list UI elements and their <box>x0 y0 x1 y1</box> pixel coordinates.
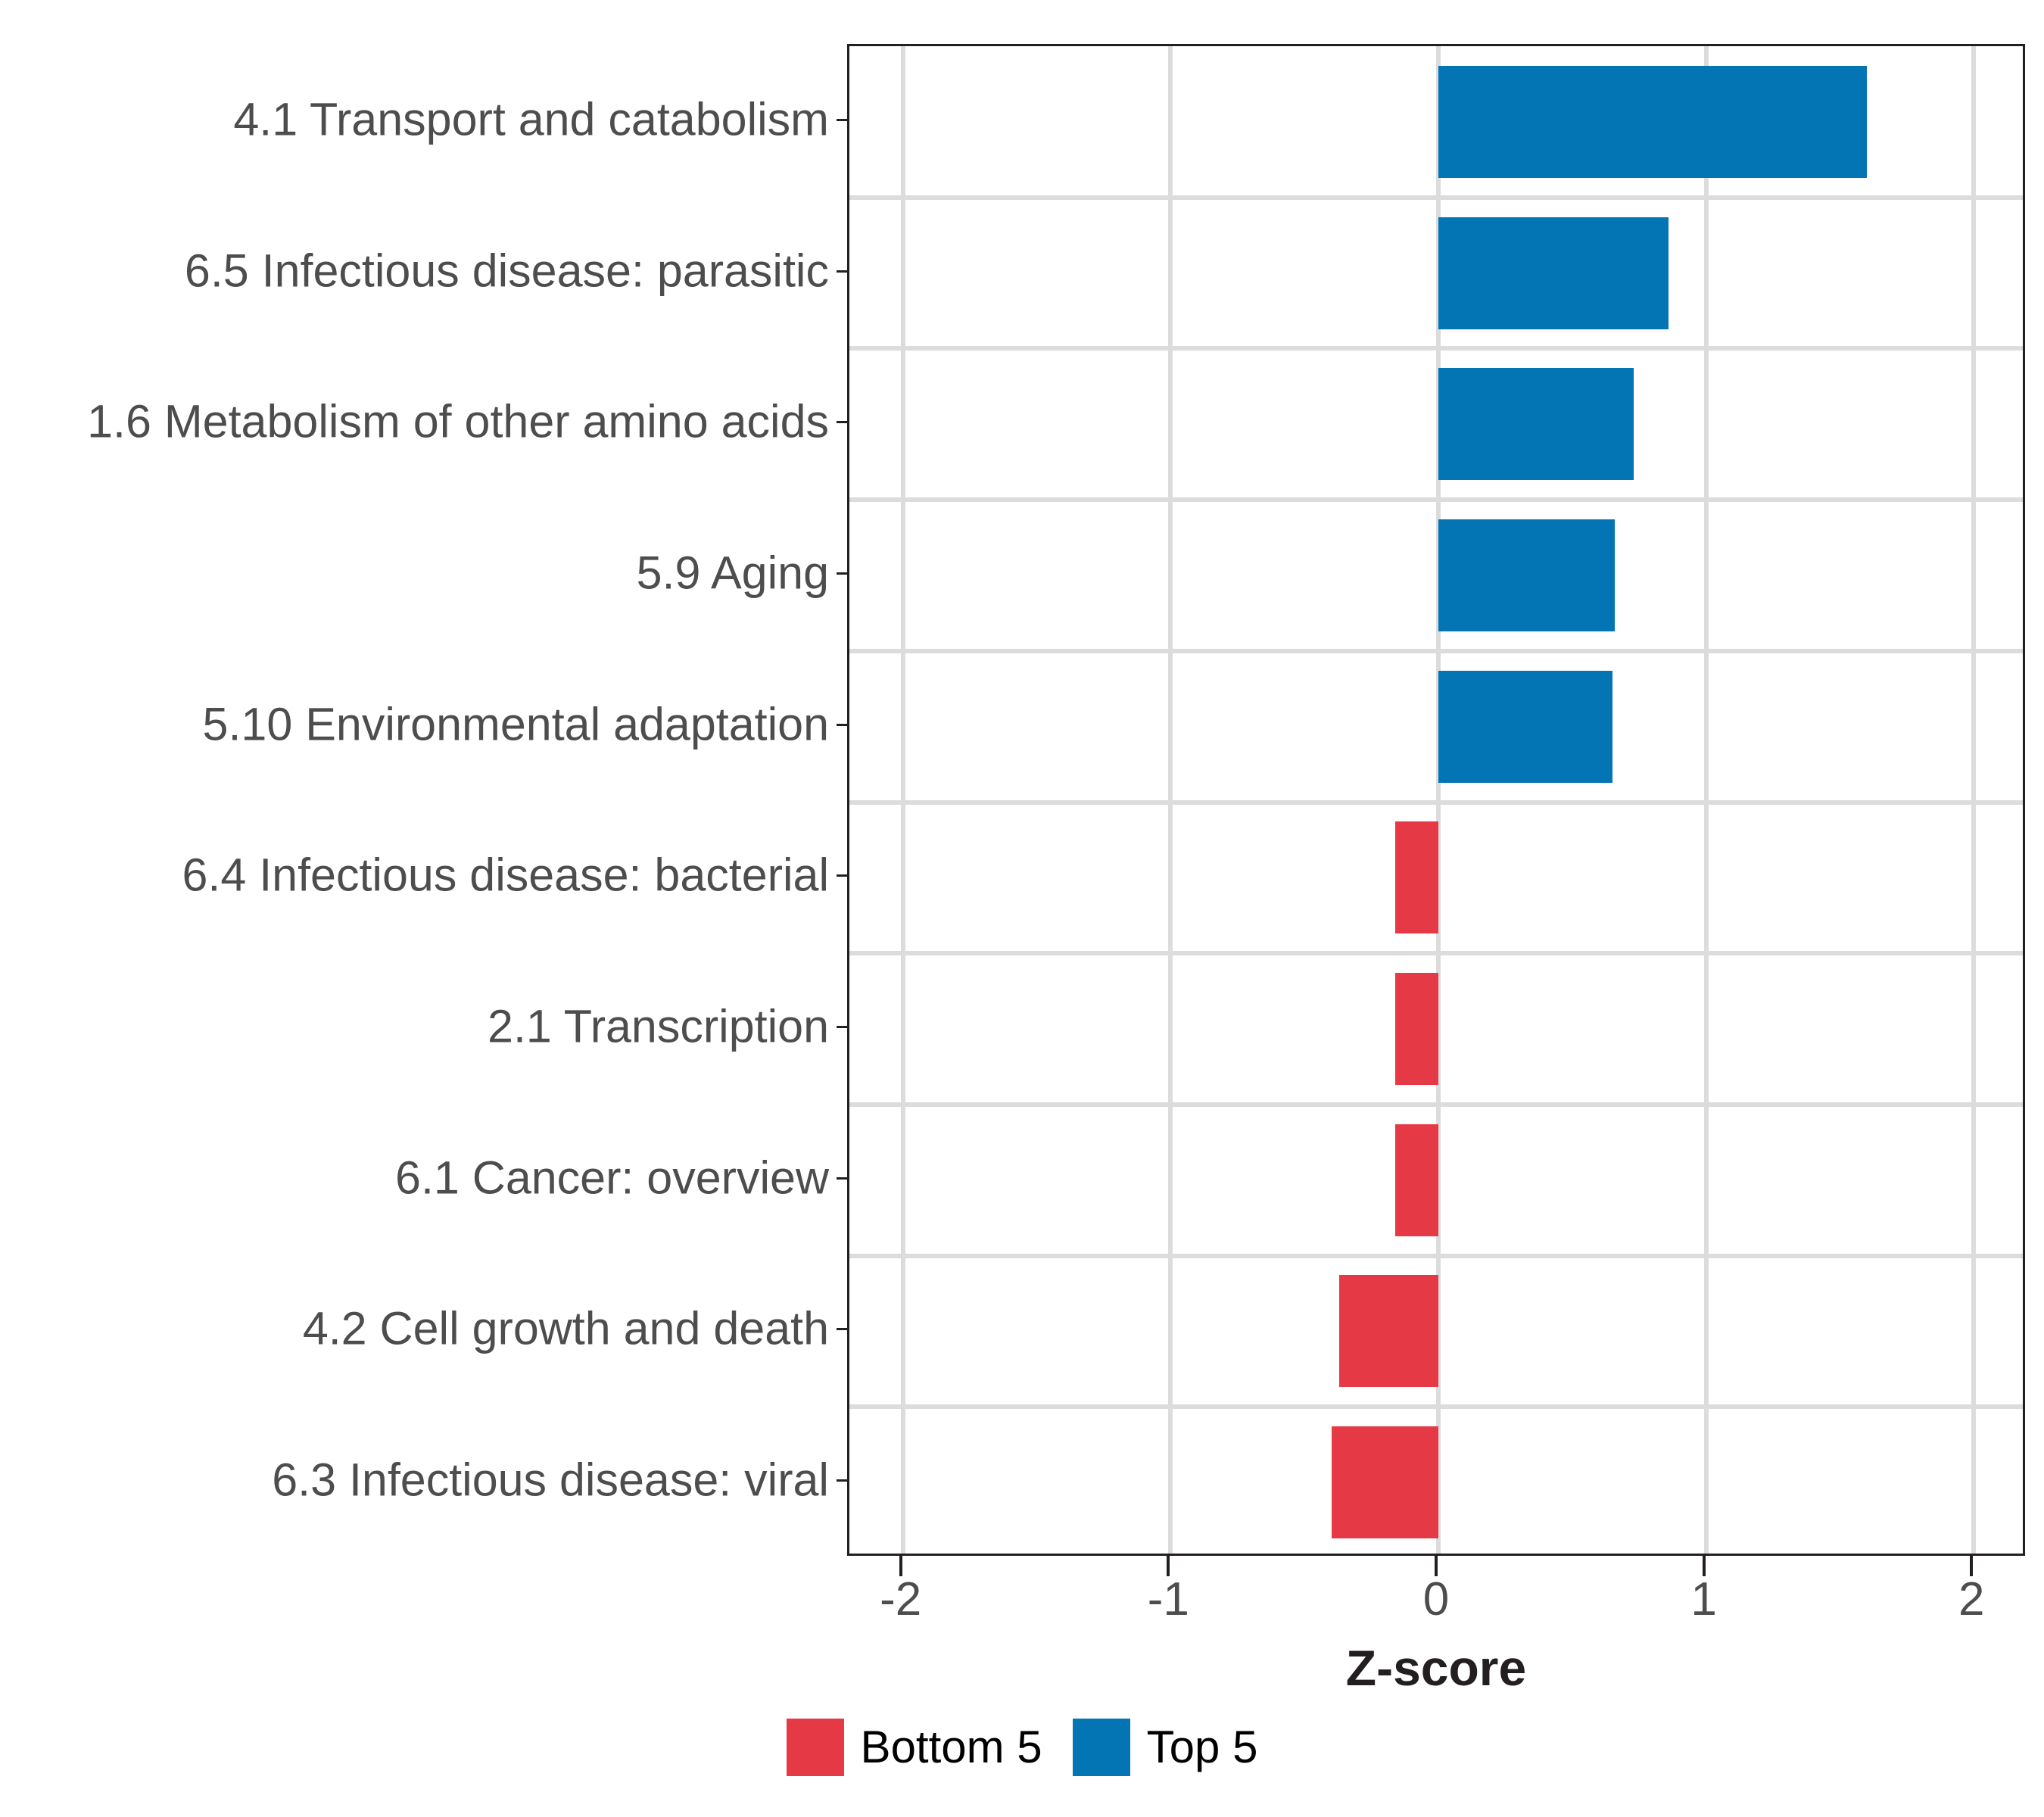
bar <box>1438 368 1634 480</box>
legend-label: Top 5 <box>1147 1725 1258 1770</box>
y-axis-labels: 4.1 Transport and catabolism6.5 Infectio… <box>0 44 829 1556</box>
legend-color-swatch <box>787 1719 844 1776</box>
y-axis-tick-mark <box>837 572 847 575</box>
gridline-horizontal <box>849 497 2023 502</box>
z-score-bar-chart: 4.1 Transport and catabolism6.5 Infectio… <box>0 0 2044 1817</box>
bar <box>1395 1124 1438 1236</box>
y-axis-tick-mark <box>837 119 847 121</box>
bar <box>1438 217 1669 329</box>
x-axis-tick-label: 2 <box>1958 1576 1984 1623</box>
y-axis-tick-label: 6.1 Cancer: overview <box>0 1155 829 1201</box>
bar <box>1395 973 1438 1085</box>
y-axis-tick-mark <box>837 874 847 877</box>
y-axis-tick-label: 5.9 Aging <box>0 550 829 596</box>
plot-panel <box>847 44 2025 1556</box>
legend-label: Bottom 5 <box>861 1725 1042 1770</box>
bar <box>1438 66 1867 178</box>
x-axis-tick-label: -1 <box>1148 1576 1189 1623</box>
legend-color-swatch <box>1073 1719 1130 1776</box>
y-axis-tick-mark <box>837 270 847 273</box>
bar <box>1438 519 1615 631</box>
gridline-horizontal <box>849 1404 2023 1409</box>
gridline-horizontal <box>849 346 2023 351</box>
gridline-horizontal <box>849 951 2023 955</box>
gridline-horizontal <box>849 649 2023 653</box>
y-axis-tick-mark <box>837 421 847 423</box>
x-axis-tick-label: 1 <box>1690 1576 1716 1623</box>
y-axis-tick-mark <box>837 1479 847 1482</box>
x-axis-title: Z-score <box>847 1639 2025 1697</box>
y-axis-tick-mark <box>837 1328 847 1330</box>
legend-item[interactable]: Top 5 <box>1073 1719 1258 1776</box>
y-axis-tick-label: 4.2 Cell growth and death <box>0 1306 829 1352</box>
x-axis-tick-label: 0 <box>1423 1576 1449 1623</box>
y-axis-tick-label: 6.4 Infectious disease: bacterial <box>0 852 829 899</box>
y-axis-tick-mark <box>837 724 847 726</box>
y-axis-tick-mark <box>837 1026 847 1028</box>
x-axis-tick-label: -2 <box>880 1576 921 1623</box>
gridline-horizontal <box>849 195 2023 200</box>
y-axis-tick-mark <box>837 1177 847 1180</box>
bar <box>1395 821 1438 933</box>
bar <box>1438 671 1612 783</box>
y-axis-tick-label: 4.1 Transport and catabolism <box>0 96 829 142</box>
bar <box>1339 1275 1438 1387</box>
bar <box>1332 1426 1438 1538</box>
gridline-horizontal <box>849 1102 2023 1107</box>
y-axis-tick-label: 2.1 Transcription <box>0 1004 829 1050</box>
y-axis-tick-label: 6.5 Infectious disease: parasitic <box>0 248 829 294</box>
gridline-horizontal <box>849 1254 2023 1258</box>
y-axis-tick-label: 6.3 Infectious disease: viral <box>0 1457 829 1504</box>
y-axis-tick-label: 5.10 Environmental adaptation <box>0 701 829 747</box>
y-axis-tick-label: 1.6 Metabolism of other amino acids <box>0 399 829 445</box>
x-axis-tick-labels: -2-1012 <box>847 1576 2025 1637</box>
legend-item[interactable]: Bottom 5 <box>787 1719 1042 1776</box>
chart-legend: Bottom 5Top 5 <box>0 1719 2044 1776</box>
gridline-horizontal <box>849 800 2023 805</box>
